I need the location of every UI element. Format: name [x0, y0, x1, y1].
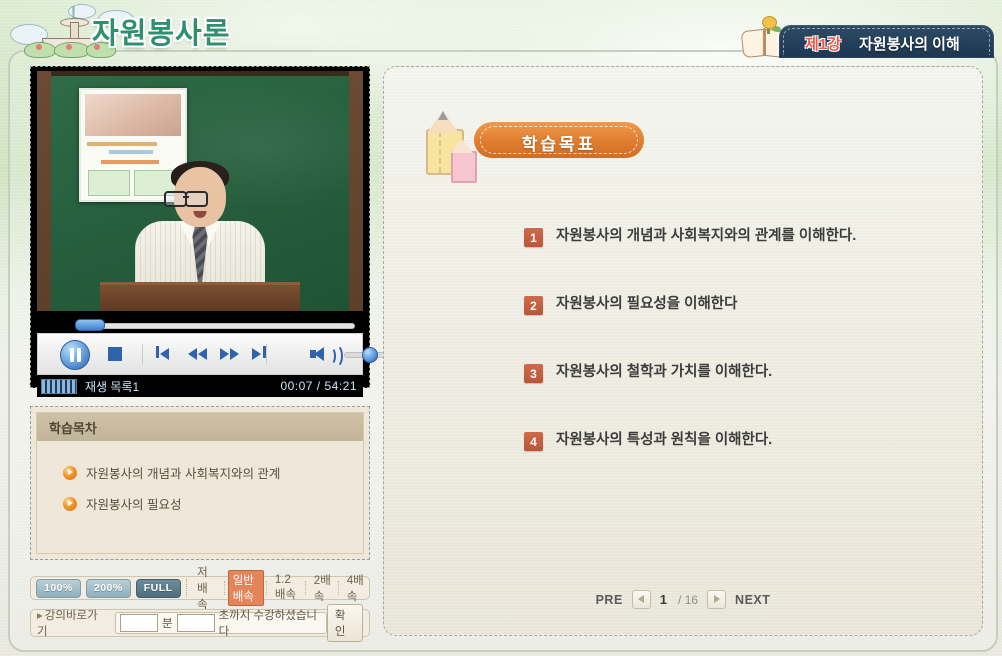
orange-arrow-icon	[63, 466, 77, 480]
stop-button[interactable]	[108, 347, 122, 361]
lecture-shortcut-link[interactable]: 강의바로가기	[37, 607, 105, 639]
list-item: 2 자원봉사의 필요성을 이해한다	[524, 295, 952, 315]
next-page-label[interactable]: NEXT	[735, 593, 770, 607]
chevron-left-icon[interactable]	[632, 590, 651, 609]
goal-text: 자원봉사의 특성과 원칙을 이해한다.	[556, 431, 772, 450]
volume-handle[interactable]	[362, 347, 378, 363]
speed-option-normal[interactable]: 일반배속	[228, 570, 265, 606]
list-item: 3 자원봉사의 철학과 가치를 이해한다.	[524, 363, 952, 383]
rewind-button[interactable]	[188, 346, 208, 362]
lecturer	[125, 161, 275, 311]
playlist-name: 재생 목록1	[85, 378, 139, 395]
goal-list: 1 자원봉사의 개념과 사회복지와의 관계를 이해한다. 2 자원봉사의 필요성…	[524, 227, 952, 499]
playback-time: 00:07 / 54:21	[280, 379, 357, 393]
speed-option-2x[interactable]: 2배속	[309, 570, 336, 606]
previous-button[interactable]	[156, 346, 172, 362]
pencil-icon	[451, 141, 473, 177]
speed-option-4x[interactable]: 4배속	[342, 570, 369, 606]
speed-option-1_2x[interactable]: 1.2배속	[270, 572, 303, 604]
zoom-200-button[interactable]: 200%	[86, 579, 131, 598]
total-pages: / 16	[678, 593, 698, 607]
goal-number-badge: 3	[524, 364, 543, 383]
lesson-name: 자원봉사의 이해	[859, 33, 960, 54]
zoom-100-button[interactable]: 100%	[36, 579, 81, 598]
lesson-number: 제1강	[805, 33, 841, 54]
seek-slider[interactable]	[39, 317, 361, 331]
toc-header: 학습목차	[37, 413, 363, 441]
resume-suffix-label: 초까지 수강하셨습니다	[219, 607, 318, 639]
equalizer-icon	[41, 379, 77, 394]
goal-heading: 학습목표	[474, 130, 644, 155]
pagination: PRE 1 / 16 NEXT	[384, 590, 982, 609]
goal-number-badge: 4	[524, 432, 543, 451]
pause-button[interactable]	[60, 340, 90, 370]
goal-text: 자원봉사의 개념과 사회복지와의 관계를 이해한다.	[556, 227, 856, 246]
toc-item-label: 자원봉사의 필요성	[86, 494, 181, 513]
toc-item[interactable]: 자원봉사의 필요성	[63, 494, 363, 513]
podium	[100, 282, 300, 311]
goal-text: 자원봉사의 철학과 가치를 이해한다.	[556, 363, 772, 382]
goal-number-badge: 2	[524, 296, 543, 315]
toc-item[interactable]: 자원봉사의 개념과 사회복지와의 관계	[63, 463, 363, 482]
video-stage[interactable]	[37, 71, 363, 311]
toc-panel: 학습목차 자원봉사의 개념과 사회복지와의 관계 자원봉사의 필요성	[30, 406, 370, 560]
player-controls	[37, 333, 363, 375]
seek-track[interactable]	[79, 323, 355, 329]
minutes-unit-label: 분	[162, 615, 173, 631]
fast-forward-button[interactable]	[220, 346, 240, 362]
page-header: 자원봉사론 제1강 자원봉사의 이해	[0, 0, 1002, 58]
playback-settings-bar: 100% 200% FULL 저배속 일반배속 1.2배속 2배속 4배속	[30, 576, 370, 600]
lecture-resume-bar: 강의바로가기 분 초까지 수강하셨습니다 확인	[30, 609, 370, 637]
speed-option-slow[interactable]: 저배속	[192, 562, 222, 614]
toc-item-label: 자원봉사의 개념과 사회복지와의 관계	[86, 463, 280, 482]
playlist-bar: 재생 목록1 00:07 / 54:21	[37, 375, 363, 397]
content-panel: 학습목표 1 자원봉사의 개념과 사회복지와의 관계를 이해한다. 2 자원봉사…	[383, 66, 983, 636]
prev-page-label[interactable]: PRE	[596, 593, 623, 607]
list-item: 1 자원봉사의 개념과 사회복지와의 관계를 이해한다.	[524, 227, 952, 247]
goal-text: 자원봉사의 필요성을 이해한다	[556, 295, 737, 314]
current-page: 1	[660, 592, 667, 607]
lesson-banner: 제1강 자원봉사의 이해	[779, 25, 994, 58]
confirm-button[interactable]: 확인	[327, 604, 363, 642]
toc-list: 자원봉사의 개념과 사회복지와의 관계 자원봉사의 필요성	[37, 441, 363, 513]
orange-arrow-icon	[63, 497, 77, 511]
chevron-right-icon[interactable]	[707, 590, 726, 609]
toc-heading: 학습목차	[49, 418, 97, 437]
video-player[interactable]: 재생 목록1 00:07 / 54:21	[30, 66, 370, 388]
left-column: 재생 목록1 00:07 / 54:21 학습목차 자원봉사의 개념과 사회복지…	[30, 66, 372, 637]
goal-header: 학습목표	[426, 119, 646, 161]
minutes-input[interactable]	[120, 614, 158, 632]
goal-heading-pill: 학습목표	[474, 122, 644, 158]
seconds-input[interactable]	[177, 614, 215, 632]
list-item: 4 자원봉사의 특성과 원칙을 이해한다.	[524, 431, 952, 451]
page-title: 자원봉사론	[92, 10, 230, 52]
goal-number-badge: 1	[524, 228, 543, 247]
projected-slide	[79, 88, 187, 202]
zoom-full-button[interactable]: FULL	[136, 579, 181, 598]
seek-handle[interactable]	[75, 319, 105, 331]
